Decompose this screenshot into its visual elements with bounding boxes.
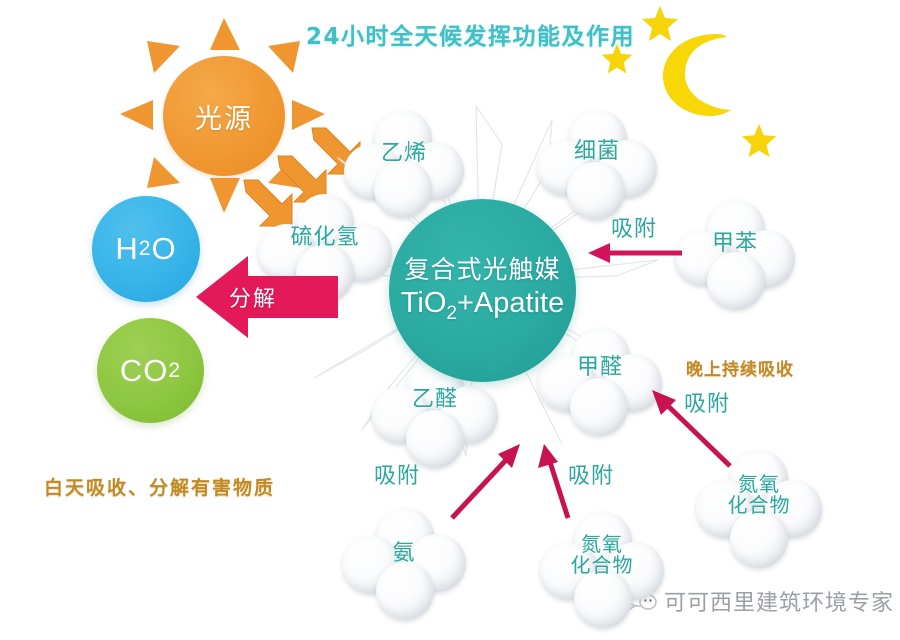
molecule-balls xyxy=(540,512,664,628)
molecule-balls xyxy=(537,110,657,218)
formula-subscript: 2 xyxy=(446,303,457,324)
nighttime-note: 晚上持续吸收 xyxy=(686,355,794,380)
h2o-prefix: H xyxy=(115,231,138,267)
sun-label: 光源 xyxy=(195,97,253,136)
formula-suffix: +Apatite xyxy=(457,287,564,319)
daytime-note: 白天吸收、分解有害物质 xyxy=(44,473,275,500)
adsorb-arrow-ammonia xyxy=(446,440,526,527)
catalyst-title: 复合式光触媒 xyxy=(404,256,560,285)
adsorb-label-ammonia: 吸附 xyxy=(374,458,420,490)
catalyst-formula: TiO2+Apatite xyxy=(401,287,564,325)
h2o-subscript: 2 xyxy=(139,237,152,261)
adsorb-arrow-toluene xyxy=(586,240,682,271)
footer-account-name: 可可西里建筑环境专家 xyxy=(664,585,894,617)
h2o-suffix: O xyxy=(151,231,176,267)
infographic-canvas: 24小时全天候发挥功能及作用 光源 xyxy=(0,0,900,640)
star-icon xyxy=(600,42,634,81)
co2-prefix: CO xyxy=(120,353,169,389)
molecule-bacteria: 细菌 xyxy=(537,110,657,218)
adsorb-label-toluene: 吸附 xyxy=(611,211,657,243)
co2-subscript: 2 xyxy=(168,359,181,383)
output-circle-co2: CO2 xyxy=(97,318,204,423)
formula-prefix: TiO xyxy=(401,287,447,319)
star-icon xyxy=(640,4,680,49)
molecule-nitrogen-oxides-bottom: 氮氧 化合物 xyxy=(540,512,664,628)
page-title: 24小时全天候发挥功能及作用 xyxy=(306,17,635,51)
output-circle-h2o: H2O xyxy=(92,196,200,302)
footer-account[interactable]: 可可西里建筑环境专家 xyxy=(627,585,894,617)
decompose-label: 分解 xyxy=(229,281,277,313)
star-icon xyxy=(740,122,778,165)
center-catalyst-badge: 复合式光触媒 TiO2+Apatite xyxy=(389,199,576,382)
adsorb-label-nox-right: 吸附 xyxy=(684,386,730,418)
molecule-balls xyxy=(675,200,795,308)
adsorb-label-nox-bottom: 吸附 xyxy=(568,458,614,490)
molecule-toluene: 甲苯 xyxy=(675,200,795,308)
